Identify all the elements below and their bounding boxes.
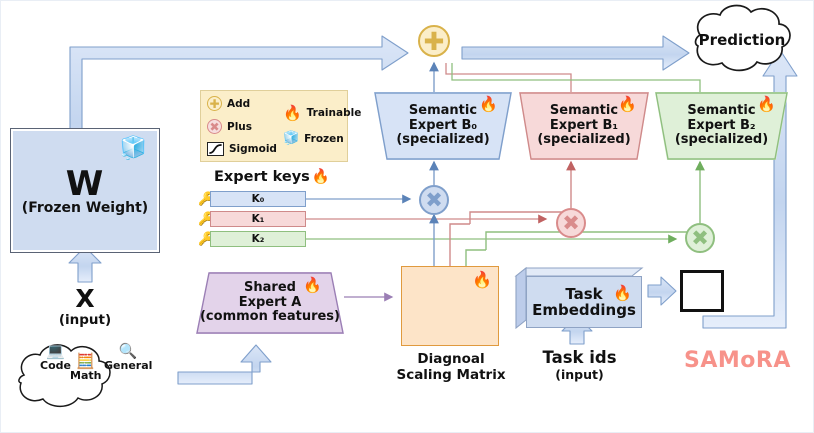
semantic-expert-b0-box: Semantic Expert B₀ (specialized) 🔥 <box>374 92 512 160</box>
legend-label-add: Add <box>227 98 250 110</box>
semantic-expert-b2-line3: (specialized) <box>675 133 768 148</box>
expert-key-label-0: K₀ <box>210 191 306 207</box>
sigmoid-box <box>680 270 724 312</box>
legend-column-ops: ✚ Add ✖ Plus Sigmoid <box>207 96 277 156</box>
arrow-input-to-shared-expert <box>178 345 271 384</box>
input-symbol: X <box>62 284 108 313</box>
legend-label-trainable: Trainable <box>307 107 362 119</box>
arrow-add-to-prediction <box>462 36 689 70</box>
ice-cube-icon: 🧊 <box>120 137 147 162</box>
line-dsm-red-branch <box>450 224 470 266</box>
frozen-weight-caption: (Frozen Weight) <box>22 201 148 217</box>
semantic-expert-b0-line1: Semantic <box>409 104 477 119</box>
line-dsm-to-mul-green <box>486 232 700 253</box>
expert-key-label-2: K₂ <box>210 231 306 247</box>
fire-icon: 🔥 <box>303 276 322 294</box>
task-ids-sublabel: (input) <box>522 367 637 382</box>
line-expertB1-to-add <box>446 63 571 92</box>
semantic-expert-b0-line2: Expert B₀ <box>409 119 477 134</box>
circle-x-icon: ✖ <box>562 211 580 235</box>
semantic-expert-b2-line1: Semantic <box>687 104 755 119</box>
shared-expert-a-line2: Expert A <box>239 296 302 311</box>
legend-item-add: ✚ Add <box>207 96 277 111</box>
fire-icon: 🔥 <box>757 95 776 113</box>
expert-key-row-0: 🔑 K₀ <box>198 191 306 207</box>
expert-key-label-1: K₁ <box>210 211 306 227</box>
circle-plus-icon: ✚ <box>207 96 222 111</box>
input-domain-math: 🧮 Math <box>70 354 101 382</box>
semantic-expert-b2-box: Semantic Expert B₂ (specialized) 🔥 <box>655 92 788 160</box>
fire-icon: 🔥 <box>283 104 302 122</box>
fire-icon: 🔥 <box>618 95 637 113</box>
task-embeddings-face: Task Embeddings 🔥 <box>526 276 642 328</box>
line-expertB2-to-add <box>452 63 700 92</box>
legend-item-trainable: 🔥 Trainable <box>283 104 361 122</box>
input-caption: (input) <box>54 312 116 328</box>
fire-icon: 🔥 <box>479 95 498 113</box>
input-domain-code-label: Code <box>40 359 71 372</box>
line-dsm-green-branch <box>466 250 486 266</box>
circle-x-icon: ✖ <box>691 226 709 250</box>
sigmoid-icon <box>207 142 224 156</box>
diagonal-scaling-matrix-caption: Diagnoal Scaling Matrix <box>396 352 506 383</box>
key-icon: 🔑 <box>198 233 209 246</box>
multiply-node-green: ✖ <box>685 223 715 253</box>
fire-icon: 🔥 <box>472 270 492 289</box>
shared-expert-a-line3: (common features) <box>200 310 340 325</box>
semantic-expert-b1-box: Semantic Expert B₁ (specialized) 🔥 <box>519 92 649 160</box>
legend-label-plus: Plus <box>227 121 252 133</box>
fire-icon: 🔥 <box>613 285 632 302</box>
task-ids-label: Task ids <box>522 348 637 367</box>
legend-label-frozen: Frozen <box>304 133 344 145</box>
legend-item-frozen: 🧊 Frozen <box>283 131 361 146</box>
key-icon: 🔑 <box>198 193 209 206</box>
calculator-icon: 🧮 <box>70 354 101 369</box>
circle-plus-icon: ✚ <box>424 27 445 56</box>
diagram-canvas: W (Frozen Weight) 🧊 ✚ Add ✖ Plus Sigmoi <box>0 0 814 433</box>
multiply-node-blue: ✖ <box>419 185 449 215</box>
task-ids-caption: Task ids (input) <box>522 348 637 382</box>
input-domain-math-label: Math <box>70 369 101 382</box>
arrow-embeddings-to-sigmoid <box>648 277 676 305</box>
expert-key-row-2: 🔑 K₂ <box>198 231 306 247</box>
input-domain-general: 🔍 General <box>104 344 152 372</box>
expert-key-row-1: 🔑 K₁ <box>198 211 306 227</box>
legend-label-sigmoid: Sigmoid <box>229 143 277 155</box>
key-icon: 🔑 <box>198 213 209 226</box>
samora-watermark: SAMoRA <box>684 348 791 373</box>
expert-keys-text: Expert keys <box>214 169 310 185</box>
task-embeddings-box: Task Embeddings 🔥 <box>516 268 642 328</box>
task-embeddings-line2: Embeddings <box>532 302 636 319</box>
semantic-expert-b1-line1: Semantic <box>550 104 618 119</box>
legend-column-states: 🔥 Trainable 🧊 Frozen <box>283 96 361 156</box>
prediction-label: Prediction <box>692 31 792 49</box>
input-domain-icons: 💻 Code 🧮 Math 🔍 General <box>18 340 158 395</box>
multiply-node-red: ✖ <box>556 208 586 238</box>
ice-cube-icon: 🧊 <box>283 131 299 146</box>
input-domain-code: 💻 Code <box>40 344 71 372</box>
dsm-caption-line2: Scaling Matrix <box>396 368 506 384</box>
circle-x-icon: ✖ <box>425 188 443 212</box>
expert-keys-label: Expert keys 🔥 <box>214 168 330 185</box>
dsm-caption-line1: Diagnoal <box>396 352 506 368</box>
semantic-expert-b2-line2: Expert B₂ <box>687 119 755 134</box>
code-icon: 💻 <box>40 344 71 359</box>
semantic-expert-b0-line3: (specialized) <box>396 133 489 148</box>
frozen-weight-box: W (Frozen Weight) 🧊 <box>10 128 160 253</box>
legend-item-sigmoid: Sigmoid <box>207 142 277 156</box>
semantic-expert-b1-line2: Expert B₁ <box>550 119 618 134</box>
semantic-expert-b1-line3: (specialized) <box>537 133 630 148</box>
frozen-weight-symbol: W <box>66 165 105 203</box>
magnifier-icon: 🔍 <box>104 344 152 359</box>
add-node: ✚ <box>418 25 450 57</box>
legend-box: ✚ Add ✖ Plus Sigmoid 🔥 Trainable <box>200 90 348 162</box>
circle-x-icon: ✖ <box>207 119 222 134</box>
shared-expert-a-line1: Shared <box>244 281 296 296</box>
input-domain-general-label: General <box>104 359 152 372</box>
diagonal-scaling-matrix-box: 🔥 <box>401 266 499 346</box>
fire-icon: 🔥 <box>312 168 330 185</box>
shared-expert-a-box: Shared Expert A (common features) 🔥 <box>196 272 344 334</box>
legend-item-plus: ✖ Plus <box>207 119 277 134</box>
